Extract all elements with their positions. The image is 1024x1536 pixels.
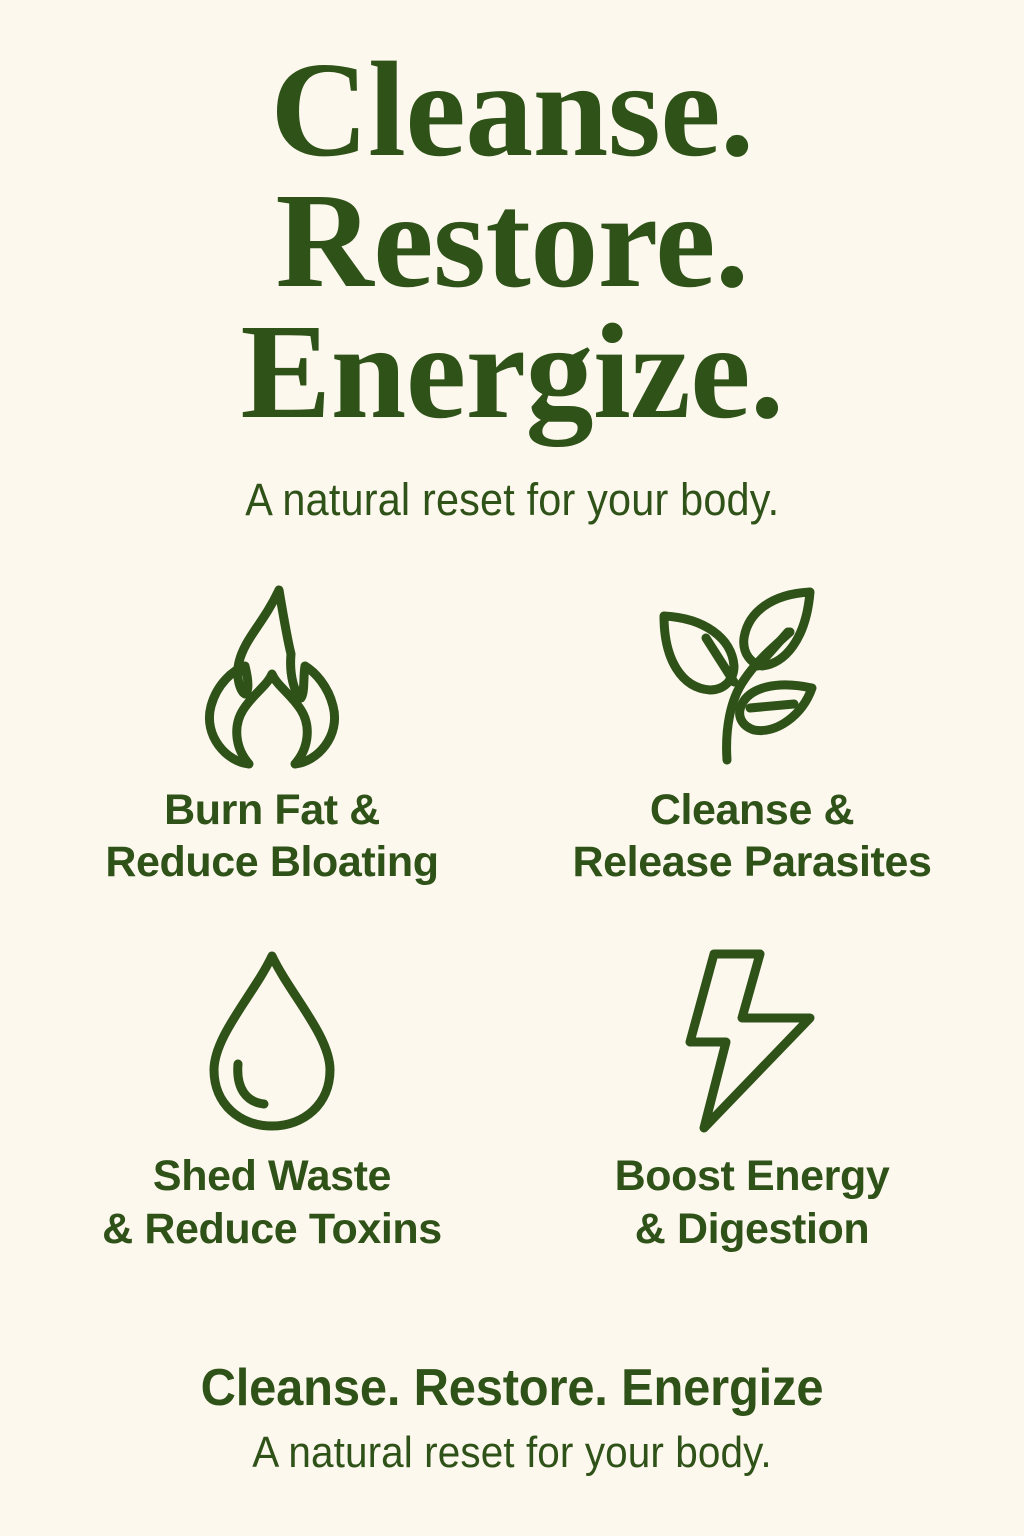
poster-root: Cleanse. Restore. Energize. A natural re… xyxy=(0,0,1024,1536)
headline-line-1: Cleanse. xyxy=(0,46,1024,175)
feature-item-shed-waste: Shed Waste & Reduce Toxins xyxy=(32,946,512,1255)
feature-label-line-1: Shed Waste xyxy=(102,1150,442,1202)
leaf-sprig-icon xyxy=(652,580,852,770)
footer: Cleanse. Restore. Energize A natural res… xyxy=(0,1358,1024,1478)
lightning-bolt-icon xyxy=(682,946,822,1136)
footer-subtitle: A natural reset for your body. xyxy=(41,1428,983,1478)
page-subtitle: A natural reset for your body. xyxy=(245,474,779,526)
feature-label-line-2: & Reduce Toxins xyxy=(102,1203,442,1255)
headline-line-3: Energize. xyxy=(0,308,1024,437)
feature-label-cleanse: Cleanse & Release Parasites xyxy=(573,784,932,889)
page-title: Cleanse. Restore. Energize. xyxy=(0,46,1024,438)
feature-label-line-2: Release Parasites xyxy=(573,836,932,888)
feature-label-shed-waste: Shed Waste & Reduce Toxins xyxy=(102,1150,442,1255)
feature-label-line-2: & Digestion xyxy=(615,1203,890,1255)
feature-label-line-1: Cleanse & xyxy=(573,784,932,836)
feature-item-boost-energy: Boost Energy & Digestion xyxy=(512,946,992,1255)
feature-label-boost-energy: Boost Energy & Digestion xyxy=(615,1150,890,1255)
feature-label-burn-fat: Burn Fat & Reduce Bloating xyxy=(105,784,438,889)
water-droplet-icon xyxy=(192,946,352,1136)
headline-line-2: Restore. xyxy=(0,177,1024,306)
feature-item-cleanse: Cleanse & Release Parasites xyxy=(512,580,992,889)
flame-icon xyxy=(183,580,361,770)
feature-item-burn-fat: Burn Fat & Reduce Bloating xyxy=(32,580,512,889)
feature-grid: Burn Fat & Reduce Bloating xyxy=(32,580,992,1256)
footer-title: Cleanse. Restore. Energize xyxy=(31,1358,994,1418)
feature-label-line-1: Boost Energy xyxy=(615,1150,890,1202)
feature-label-line-2: Reduce Bloating xyxy=(105,836,438,888)
feature-label-line-1: Burn Fat & xyxy=(105,784,438,836)
